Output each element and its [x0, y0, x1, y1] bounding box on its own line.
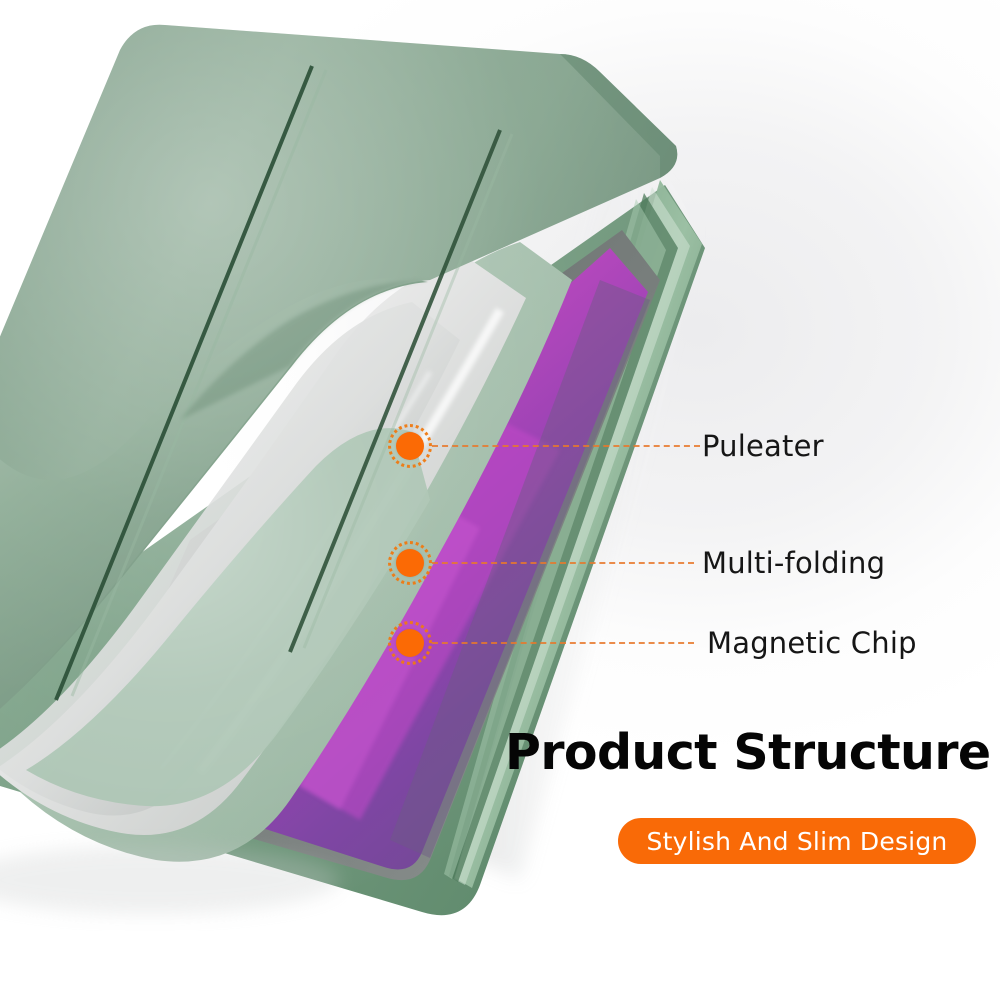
callout-marker-dot[interactable]: [388, 541, 432, 585]
hinge-notches: [124, 652, 260, 814]
inner-mint-lining: [20, 242, 572, 862]
marker-core-icon: [396, 432, 424, 460]
callout-marker-dot[interactable]: [388, 424, 432, 468]
product-structure-infographic: Puleater Multi-folding Magnetic Chip Pro…: [0, 0, 1000, 1000]
callout-lead-line: [432, 445, 700, 447]
callout-marker-dot[interactable]: [388, 621, 432, 665]
page-title: Product Structure: [505, 727, 995, 778]
inner-mint-sheet-lower: [26, 428, 430, 806]
tagline-badge: Stylish And Slim Design: [618, 818, 976, 864]
callout-lead-line: [432, 642, 694, 644]
case-layer-edges: [444, 180, 702, 888]
callout-label-puleater: Puleater: [702, 429, 824, 463]
marker-core-icon: [396, 549, 424, 577]
headline-block: Product Structure: [505, 727, 995, 778]
marker-core-icon: [396, 629, 424, 657]
folio-cover: [0, 25, 677, 742]
inner-microfibre-sheet: [0, 258, 526, 835]
tagline-badge-label: Stylish And Slim Design: [647, 827, 948, 856]
callout-label-magnetic-chip: Magnetic Chip: [707, 626, 917, 660]
callout-lead-line: [432, 562, 694, 564]
contact-shadow: [0, 846, 340, 914]
tablet-screen: [80, 230, 660, 880]
tablet-back-shell: [0, 185, 705, 915]
callout-label-multi-folding: Multi-folding: [702, 546, 885, 580]
